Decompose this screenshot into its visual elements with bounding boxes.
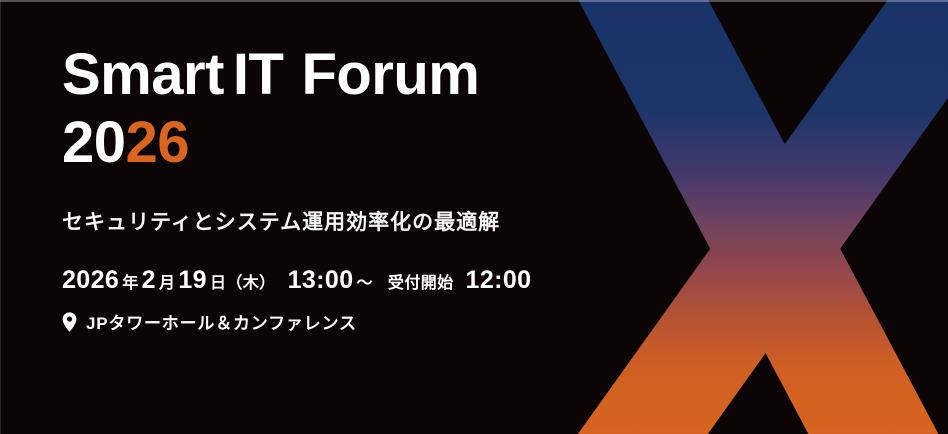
x-mark-graphic xyxy=(520,0,948,434)
venue-name: JPタワーホール＆カンファレンス xyxy=(86,309,357,334)
date-year-unit: 年 xyxy=(119,269,141,293)
reception-label: 受付開始 xyxy=(385,269,457,293)
year-suffix: 26 xyxy=(126,110,190,175)
year-prefix: 20 xyxy=(62,110,126,175)
date-day-value: 19 xyxy=(178,266,207,295)
event-title-line-1: SmartITForum xyxy=(62,46,531,104)
time-tilde: 〜 xyxy=(354,269,376,293)
title-word-it: IT xyxy=(233,42,284,107)
location-pin-icon xyxy=(62,312,77,332)
title-word-forum: Forum xyxy=(301,42,479,107)
date-month-unit: 月 xyxy=(156,269,178,293)
date-year-value: 2026 xyxy=(62,266,119,295)
event-title-year: 2026 xyxy=(62,114,531,172)
reception-time: 12:00 xyxy=(466,266,532,295)
banner-content: SmartITForum 2026 セキュリティとシステム運用効率化の最適解 2… xyxy=(62,46,531,334)
start-time: 13:00 xyxy=(288,266,354,295)
title-word-smart: Smart xyxy=(62,42,224,107)
event-banner: SmartITForum 2026 セキュリティとシステム運用効率化の最適解 2… xyxy=(0,0,948,434)
event-subtitle: セキュリティとシステム運用効率化の最適解 xyxy=(62,206,531,236)
left-edge-line xyxy=(0,0,1,434)
date-day-unit: 日（木） xyxy=(207,269,279,293)
event-datetime: 2026 年 2 月 19 日（木） 13:00 〜 受付開始 12:00 xyxy=(62,266,531,295)
date-month-value: 2 xyxy=(142,266,156,295)
event-venue: JPタワーホール＆カンファレンス xyxy=(62,309,531,334)
top-edge-line xyxy=(0,0,948,2)
